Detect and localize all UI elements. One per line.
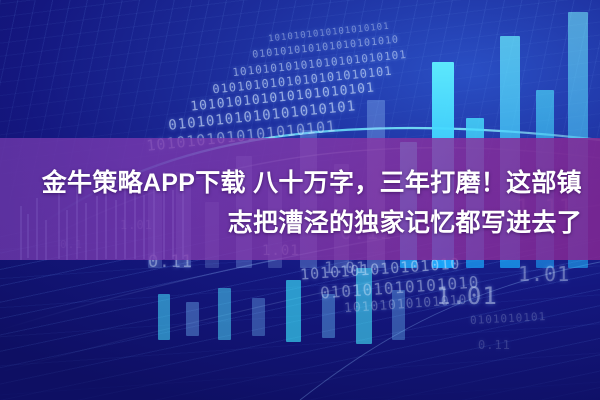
headline-line-1: 金牛策略APP下载 八十万字，三年打磨！这部镇	[42, 169, 582, 197]
banner-headline: 金牛策略APP下载 八十万字，三年打磨！这部镇 志把漕泾的独家记忆都写进去了	[0, 163, 600, 243]
promo-banner-image: 1010101010101010101 01010101010101010101…	[0, 0, 600, 400]
bar-item	[356, 268, 372, 344]
bar-item	[286, 280, 301, 342]
headline-line-2: 志把漕泾的独家记忆都写进去了	[228, 209, 582, 237]
bar-item	[158, 294, 170, 340]
bar-item	[392, 290, 405, 340]
bar-item	[218, 288, 231, 340]
bar-item	[252, 298, 265, 336]
bar-item	[322, 294, 335, 338]
bar-item	[186, 302, 199, 336]
